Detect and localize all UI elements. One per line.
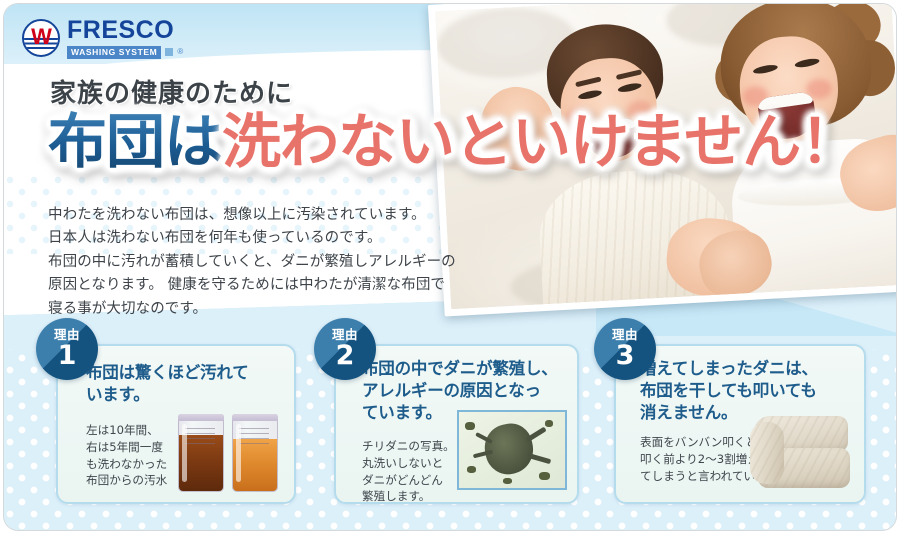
- futon-fold-edge: [750, 422, 784, 484]
- mite-leg: [527, 453, 551, 464]
- headline-blue-part: 布団は: [48, 107, 222, 176]
- beaker-rim: [178, 414, 224, 421]
- body-line: 布団の中に汚れが蓄積していくと、ダニが繁殖しアレルギーの: [48, 251, 468, 274]
- body-line: 中わたを洗わない布団は、想像以上に汚染されています。: [48, 204, 468, 227]
- mite-body: [480, 420, 537, 479]
- dust-mite-photo: [457, 410, 567, 490]
- advertisement-banner: W FRESCO WASHING SYSTEM ®: [0, 0, 900, 534]
- reason-badge-3: 理由 3: [594, 318, 656, 380]
- folded-futon-image: [748, 410, 856, 494]
- caption-line: 左は10年間、: [86, 422, 190, 439]
- beaker-left: [178, 414, 224, 492]
- headline-red-part: 洗わないといけません！: [222, 107, 858, 176]
- beaker-graduations: [185, 428, 215, 444]
- beaker-highlight: [182, 424, 187, 482]
- caption-line: も洗わなかった: [86, 456, 190, 473]
- reason-badge-2: 理由 2: [314, 318, 376, 380]
- caption-line: 右は5年間一度: [86, 439, 190, 456]
- mite-debris: [503, 478, 512, 484]
- mite-debris: [465, 422, 475, 430]
- beaker-highlight: [236, 424, 241, 482]
- caption-line: 布団からの汚水: [86, 472, 190, 489]
- beaker-graduations: [239, 428, 269, 444]
- body-line: 原因となります。 健康を守るためには中わたが清潔な布団で: [48, 274, 468, 297]
- body-line: 寝る事が大切なのです。: [48, 298, 468, 321]
- caption-line: チリダニの写真。: [362, 438, 458, 455]
- reason-card-2: 理由 2 布団の中でダニが繁殖し、 アレルギーの原因となっ ています。 チリダニ…: [334, 344, 579, 504]
- caption-line: 丸洗いしないと: [362, 455, 458, 472]
- mite-debris: [467, 466, 476, 473]
- brand-tagline: WASHING SYSTEM: [67, 46, 161, 59]
- futon-texture: [750, 422, 784, 484]
- fresco-logo: W FRESCO WASHING SYSTEM ®: [22, 18, 183, 59]
- logo-w-letter: W: [31, 26, 51, 48]
- card-heading-line: 増えてしまったダニは、: [640, 358, 856, 380]
- card-caption: 左は10年間、 右は5年間一度 も洗わなかった 布団からの汚水: [86, 422, 190, 489]
- hero-body-copy: 中わたを洗わない布団は、想像以上に汚染されています。 日本人は洗わない布団を何年…: [48, 204, 468, 321]
- badge-number: 3: [616, 342, 635, 369]
- brand-name: FRESCO: [67, 18, 183, 43]
- registered-mark: ®: [177, 48, 183, 56]
- banner-frame: W FRESCO WASHING SYSTEM ®: [4, 4, 896, 530]
- hero-subheading: 家族の健康のために: [50, 80, 293, 109]
- beaker-rim: [232, 414, 278, 421]
- badge-number: 1: [58, 342, 77, 369]
- logo-square-icon: [165, 48, 173, 56]
- card-heading-line: 布団を干しても叩いても: [640, 380, 856, 402]
- hero-headline: 布団は洗わないといけません！: [48, 112, 858, 171]
- logo-emblem-icon: W: [22, 19, 60, 57]
- brand-tagline-row: WASHING SYSTEM ®: [67, 46, 183, 59]
- card-heading-line: 布団の中でダニが繁殖し、: [362, 358, 569, 380]
- card-heading-line: 布団は驚くほど汚れて: [86, 362, 284, 384]
- body-line: 日本人は洗わない布団を何年も使っているのです。: [48, 227, 468, 250]
- card-caption: チリダニの写真。 丸洗いしないと ダニがどんどん 繁殖します。: [362, 438, 458, 505]
- reason-card-3: 理由 3 増えてしまったダニは、 布団を干しても叩いても 消えません。 表面をバ…: [614, 344, 866, 504]
- card-heading-line: います。: [86, 384, 284, 406]
- logo-wordmark: FRESCO WASHING SYSTEM ®: [67, 18, 183, 59]
- dirty-water-beakers-image: [178, 408, 282, 492]
- mite-debris: [545, 420, 553, 427]
- reason-card-1: 理由 1 布団は驚くほど汚れて います。 左は10年間、 右は5年間一度 も洗わ…: [56, 344, 296, 504]
- beaker-right: [232, 414, 278, 492]
- caption-line: 繁殖します。: [362, 488, 458, 505]
- card-heading-line: アレルギーの原因となっ: [362, 380, 569, 402]
- reason-badge-1: 理由 1: [36, 318, 98, 380]
- mite-debris: [539, 472, 550, 480]
- badge-number: 2: [336, 342, 355, 369]
- caption-line: ダニがどんどん: [362, 472, 458, 489]
